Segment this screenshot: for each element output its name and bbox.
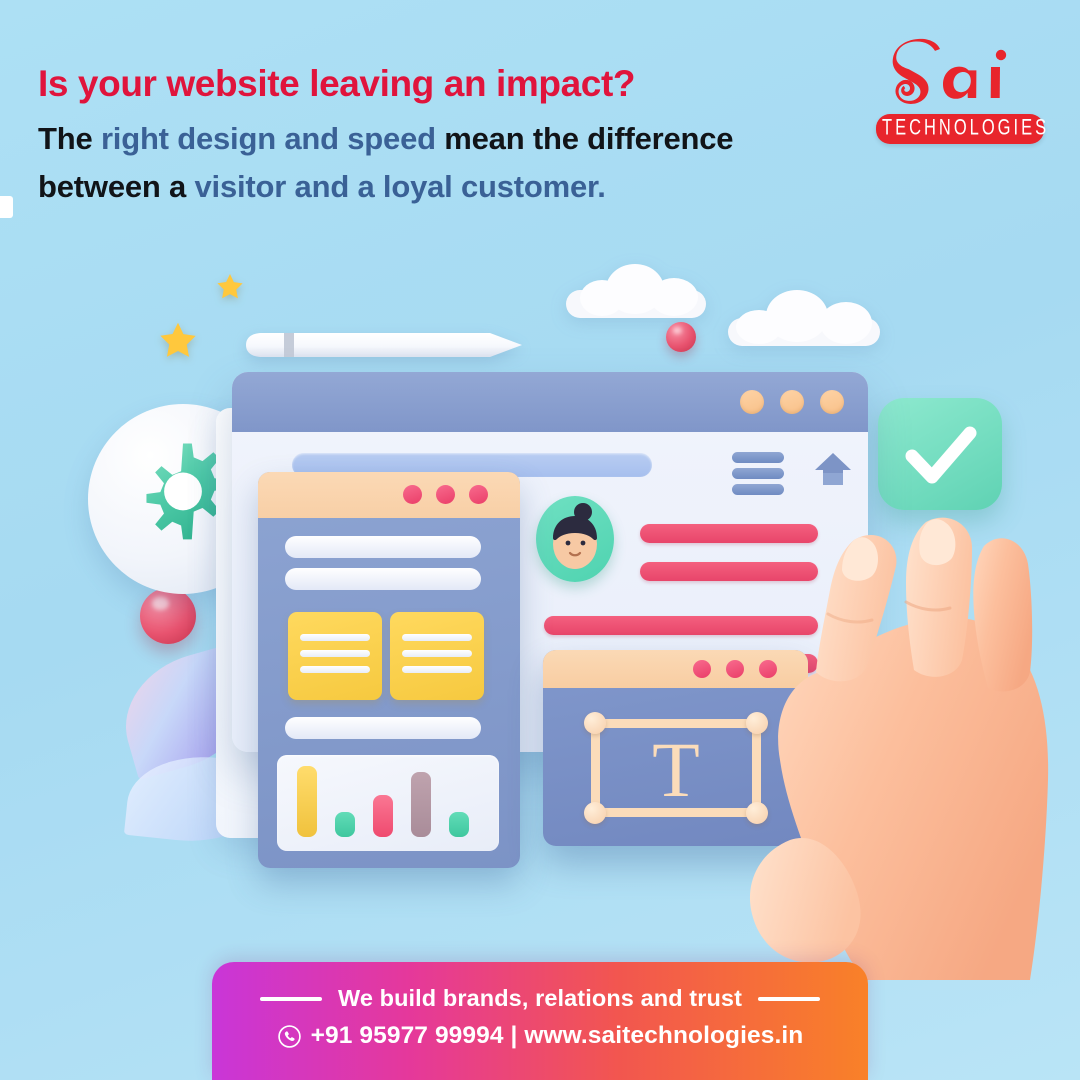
dashboard-panel[interactable] [258, 472, 520, 868]
chart-bar-3 [373, 795, 393, 837]
titlebar-dot-3[interactable] [820, 390, 844, 414]
chart-bar-5 [449, 812, 469, 837]
cloud-left [566, 262, 706, 318]
hamburger-menu-bar-2 [732, 468, 784, 479]
panel-text-bar-1 [285, 536, 481, 558]
titlebar-dot-2[interactable] [780, 390, 804, 414]
star-small-icon [215, 272, 245, 302]
panel-card-left[interactable] [288, 612, 382, 700]
sphere-pink-large [140, 588, 196, 644]
browser-titlebar [232, 372, 868, 432]
check-icon [878, 398, 1002, 510]
phone-circle-icon [277, 1024, 302, 1049]
handle-top-left[interactable] [584, 712, 606, 734]
subtext-part-1: The [38, 121, 101, 156]
page-title: Is your website leaving an impact? [38, 62, 808, 106]
star-large-icon [157, 320, 199, 362]
headline-block: Is your website leaving an impact? The r… [38, 62, 808, 211]
frame-edge-left [591, 721, 600, 815]
sphere-pink-small [666, 322, 696, 352]
pointing-hand-illustration [730, 510, 1080, 980]
stylus-pencil-icon [232, 330, 537, 360]
bar-chart [277, 755, 499, 851]
footer-banner: We build brands, relations and trust +91… [212, 962, 868, 1080]
panel-card-right[interactable] [390, 612, 484, 700]
panel-dot-1[interactable] [403, 485, 422, 504]
avatar-face-icon [536, 496, 614, 582]
chart-bar-4 [411, 772, 431, 837]
panel-dot-2[interactable] [436, 485, 455, 504]
text-glyph: T [652, 731, 700, 809]
footer-tagline: We build brands, relations and trust [338, 985, 742, 1012]
text-tool-dot-1[interactable] [693, 660, 711, 678]
footer-tagline-row: We build brands, relations and trust [212, 985, 868, 1012]
chart-bar-1 [297, 766, 317, 837]
hamburger-menu-bar-3 [732, 484, 784, 495]
cloud-right [728, 288, 880, 346]
logo-pill: TECHNOLOGIES [876, 114, 1044, 144]
handle-bottom-left[interactable] [584, 802, 606, 824]
chart-bar-2 [335, 812, 355, 837]
subtext-accent-2: visitor and a loyal customer. [195, 169, 606, 204]
user-avatar[interactable] [536, 496, 614, 582]
rule-right [758, 997, 820, 1001]
panel-text-bar-2 [285, 568, 481, 590]
logo-sub-label: TECHNOLOGIES [882, 116, 1038, 142]
subtext-accent-1: right design and speed [101, 121, 436, 156]
panel-text-bar-3 [285, 717, 481, 739]
left-edge-notch [0, 196, 13, 218]
brand-logo[interactable]: TECHNOLOGIES [876, 34, 1044, 144]
rule-left [260, 997, 322, 1001]
titlebar-dot-1[interactable] [740, 390, 764, 414]
poster-canvas: Is your website leaving an impact? The r… [0, 0, 1080, 1080]
verified-check-badge[interactable] [878, 398, 1002, 510]
home-upload-icon[interactable] [812, 448, 854, 490]
footer-contact: +91 95977 99994 | www.saitechnologies.in [311, 1022, 804, 1050]
footer-contact-row: +91 95977 99994 | www.saitechnologies.in [212, 1022, 868, 1050]
headline-subtext: The right design and speed mean the diff… [38, 115, 808, 211]
sai-wordmark-icon [876, 34, 1044, 118]
panel-dot-3[interactable] [469, 485, 488, 504]
hamburger-menu-icon[interactable] [732, 452, 784, 463]
